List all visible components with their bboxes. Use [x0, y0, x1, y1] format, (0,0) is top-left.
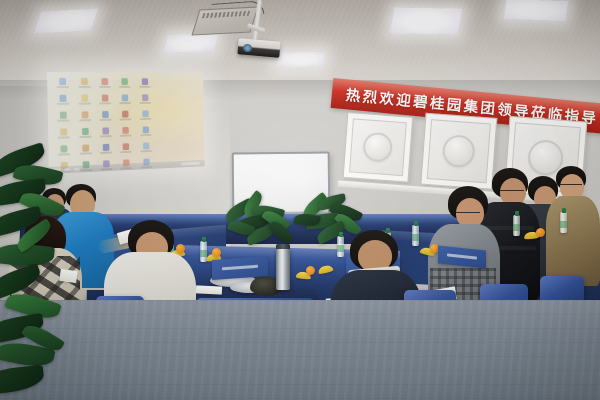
water-bottle	[412, 225, 419, 246]
orange	[212, 248, 221, 257]
orange	[176, 244, 185, 253]
projection-screen	[47, 72, 205, 174]
thermos-flask	[276, 248, 290, 290]
projector-glare	[47, 72, 205, 174]
water-bottle	[513, 215, 520, 236]
ceiling-light-panel	[34, 9, 99, 34]
meeting-room-photo: 热烈欢迎碧桂园集团领导莅临指导	[0, 0, 600, 400]
floor	[0, 300, 600, 400]
water-bottle	[560, 212, 567, 233]
ceiling-light-panel	[390, 7, 463, 34]
floor-texture	[0, 300, 600, 400]
orange	[306, 266, 315, 275]
ceiling-light-panel	[164, 33, 219, 53]
ceiling-light-panel	[276, 52, 325, 68]
wall-decor-panel	[420, 113, 497, 190]
orange	[536, 228, 545, 237]
wall-decor-panel	[343, 112, 414, 183]
ceiling-light-panel	[504, 0, 569, 21]
blue-folder	[212, 256, 268, 280]
water-bottle	[337, 236, 344, 257]
notepad	[196, 285, 222, 294]
